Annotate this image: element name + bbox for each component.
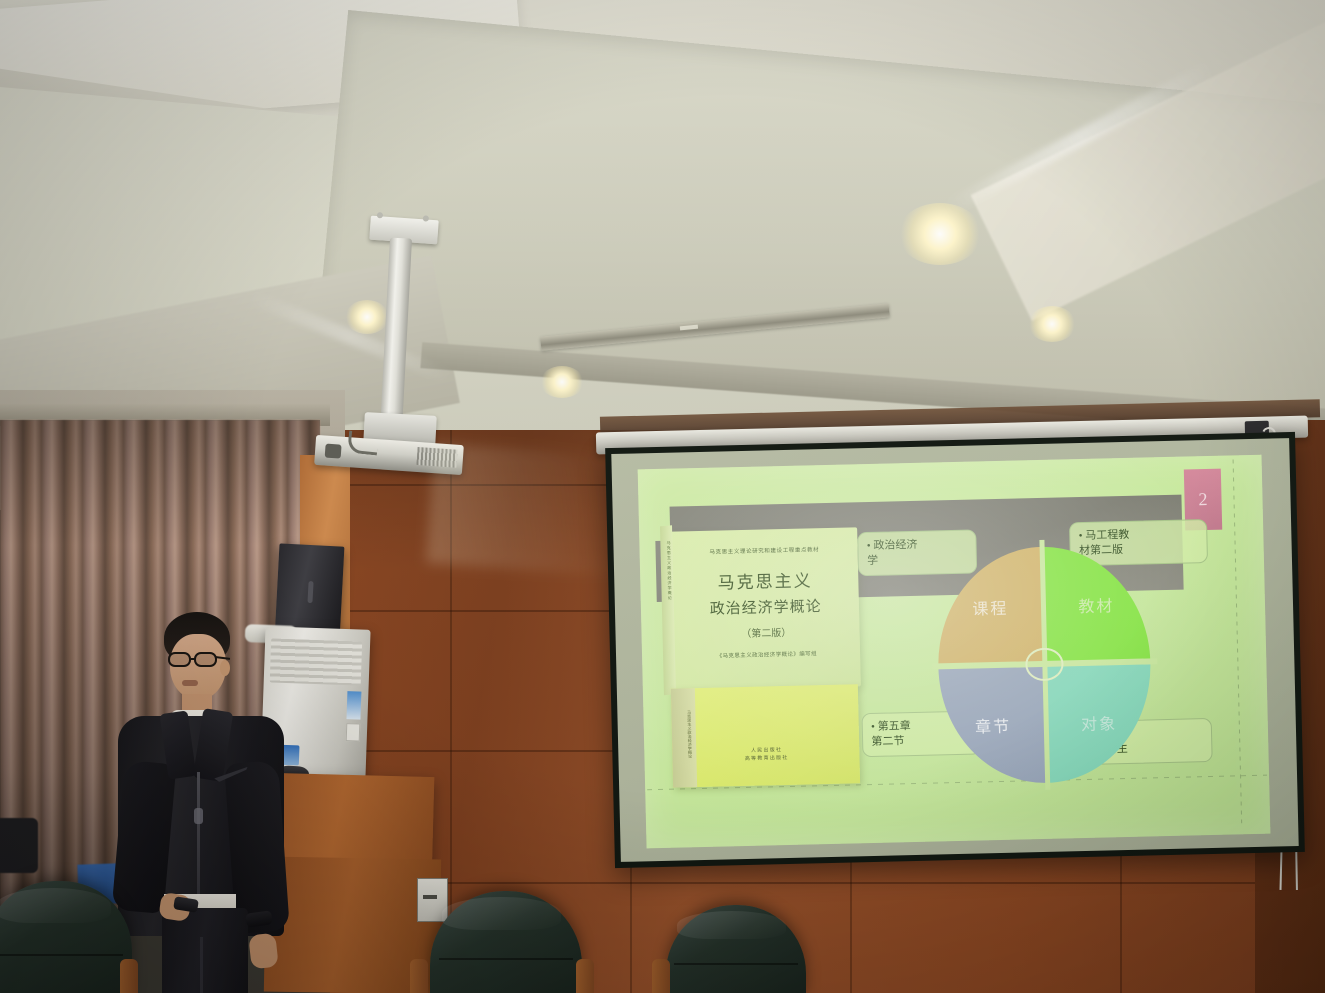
book-title-line-2: 政治经济学概论 (672, 594, 860, 619)
wheel-quadrant-bottom-left: 章节 (939, 665, 1048, 785)
eyeglasses-icon (168, 652, 230, 668)
lecture-hall-photo: 2 马克思主义政治经济学概论 马克思主义理论研究和建设工程重点教材 马克思主义 … (0, 0, 1325, 993)
wheel-label-textbook: 教材 (1078, 592, 1115, 617)
callout-text-line-1: 第五章 (878, 720, 911, 733)
bullet-icon: • (1079, 530, 1083, 542)
bullet-icon: • (867, 540, 871, 552)
downlight-icon (1028, 306, 1076, 342)
ac-energy-label (346, 691, 361, 719)
book-cover-primary: 马克思主义政治经济学概论 马克思主义理论研究和建设工程重点教材 马克思主义 政治… (670, 527, 861, 691)
chair-armrest (576, 959, 594, 993)
downlight-icon (540, 366, 584, 398)
book-publisher-lines: 人 民 出 版 社 高 等 教 育 出 版 社 (672, 745, 859, 765)
wheel-quadrant-top-right: 教材 (1042, 545, 1151, 665)
slide-page-number: 2 (1198, 489, 1207, 510)
chair-armrest (652, 959, 670, 993)
callout-text-line-1: 马工程教 (1085, 528, 1129, 541)
bullet-icon: • (871, 720, 875, 732)
chair-armrest (410, 959, 428, 993)
projection-screen: 2 马克思主义政治经济学概论 马克思主义理论研究和建设工程重点教材 马克思主义 … (605, 432, 1305, 868)
downlight-icon (898, 203, 982, 265)
slide-guide-line-vertical (1232, 459, 1242, 823)
callout-text-line-1: 政治经济 (873, 539, 917, 552)
wheel-label-course: 课程 (972, 595, 1009, 620)
projector-lens-icon (325, 444, 342, 459)
book-header-line: 马克思主义理论研究和建设工程重点教材 (671, 544, 858, 556)
screen-surface: 2 马克思主义政治经济学概论 马克思主义理论研究和建设工程重点教材 马克思主义 … (611, 438, 1298, 862)
four-quadrant-wheel: 课程 教材 章节 对象 (936, 545, 1154, 785)
dark-object-left (0, 818, 38, 873)
chair-armrest (120, 959, 138, 993)
wheel-label-audience: 对象 (1081, 710, 1118, 735)
ac-warning-label (346, 723, 361, 741)
downlight-icon (345, 300, 389, 334)
presentation-slide: 2 马克思主义政治经济学概论 马克思主义理论研究和建设工程重点教材 马克思主义 … (638, 455, 1271, 849)
projector-vent-grille (416, 447, 457, 468)
book-footer-line: 《马克思主义政治经济学概论》编写组 (673, 648, 860, 660)
book-edition: （第二版） (673, 622, 860, 641)
presenter-hand-right (248, 933, 278, 970)
circular-arrows-icon (1025, 648, 1064, 682)
presenter-trousers (162, 908, 248, 993)
presenter (112, 612, 287, 993)
book-cover-secondary: 马克思主义政治经济学概论 人 民 出 版 社 高 等 教 育 出 版 社 (671, 684, 860, 787)
callout-text-line-2: 学 (867, 555, 878, 567)
presenter-mouth (182, 680, 198, 686)
callout-text-line-2: 第二节 (871, 735, 904, 748)
zipper-pull-icon (194, 808, 203, 824)
book-title-line-1: 马克思主义 (671, 565, 859, 594)
wheel-label-chapter: 章节 (975, 712, 1012, 737)
